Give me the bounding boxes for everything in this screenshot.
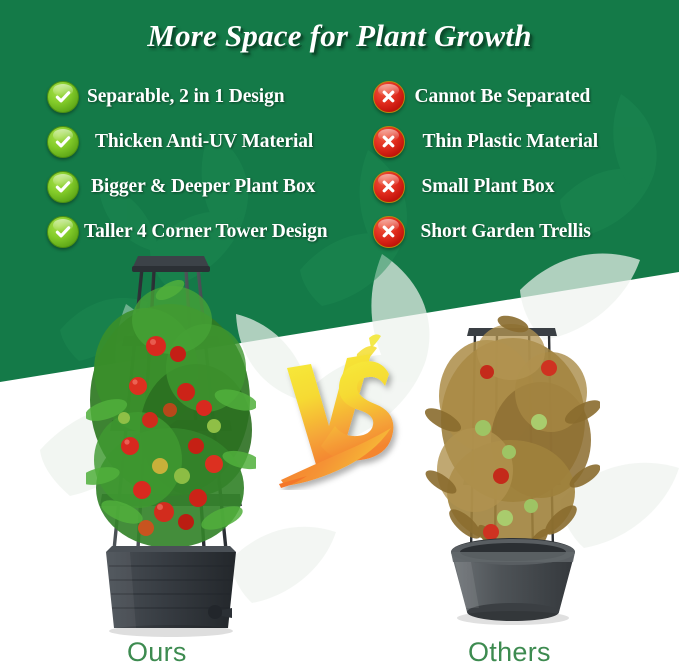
con-feature-label: Cannot Be Separated: [415, 86, 591, 108]
x-circle-icon: [373, 216, 405, 248]
con-feature-row: Thin Plastic Material: [373, 119, 679, 164]
pro-feature-row: Separable, 2 in 1 Design: [47, 74, 354, 119]
caption-others: Others: [468, 637, 551, 668]
con-feature-label: Short Garden Trellis: [421, 221, 591, 243]
product-image-others: [425, 300, 600, 635]
con-feature-row: Cannot Be Separated: [373, 74, 679, 119]
x-circle-icon: [373, 81, 405, 113]
feature-comparison: Separable, 2 in 1 Design Thicken Anti-UV…: [0, 74, 679, 254]
con-feature-row: Short Garden Trellis: [373, 209, 679, 254]
pro-feature-label: Bigger & Deeper Plant Box: [91, 176, 315, 198]
pro-feature-label: Taller 4 Corner Tower Design: [84, 221, 328, 243]
product-image-ours: [86, 250, 256, 640]
pro-feature-label: Separable, 2 in 1 Design: [87, 86, 285, 108]
pro-feature-row: Taller 4 Corner Tower Design: [47, 209, 354, 254]
check-circle-icon: [47, 81, 79, 113]
check-circle-icon: [47, 216, 79, 248]
con-feature-label: Thin Plastic Material: [423, 131, 599, 153]
con-feature-row: Small Plant Box: [373, 164, 679, 209]
con-feature-label: Small Plant Box: [422, 176, 555, 198]
pro-feature-row: Bigger & Deeper Plant Box: [47, 164, 354, 209]
caption-ours: Ours: [127, 637, 187, 668]
pro-feature-label: Thicken Anti-UV Material: [95, 131, 313, 153]
x-circle-icon: [373, 126, 405, 158]
comparison-infographic: More Space for Plant Growth Separable, 2…: [0, 0, 679, 669]
con-column: Cannot Be Separated Thin Plastic Materia…: [354, 74, 679, 254]
check-circle-icon: [47, 126, 79, 158]
pro-column: Separable, 2 in 1 Design Thicken Anti-UV…: [0, 74, 354, 254]
check-circle-icon: [47, 171, 79, 203]
x-circle-icon: [373, 171, 405, 203]
page-title: More Space for Plant Growth: [0, 18, 679, 54]
versus-badge: [277, 330, 407, 490]
pro-feature-row: Thicken Anti-UV Material: [47, 119, 354, 164]
